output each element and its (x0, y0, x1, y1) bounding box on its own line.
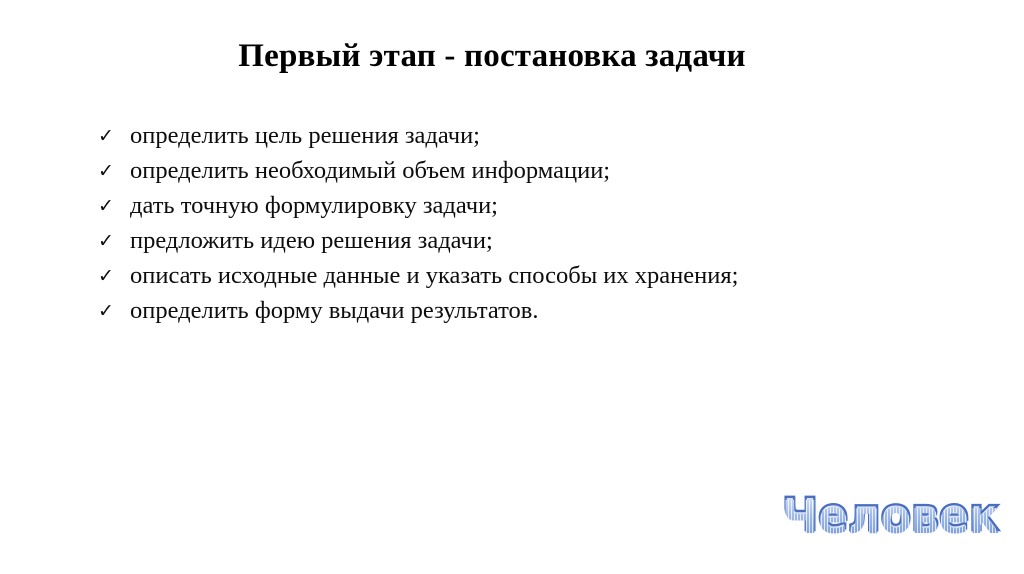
list-item-label: определить форму выдачи результатов. (130, 293, 958, 328)
list-item-label: описать исходные данные и указать способ… (130, 258, 958, 293)
check-icon: ✓ (98, 154, 130, 189)
list-item: ✓ определить цель решения задачи; (98, 118, 958, 153)
list-item-label: определить необходимый объем информации; (130, 153, 958, 188)
list-item: ✓ описать исходные данные и указать спос… (98, 258, 958, 293)
check-icon: ✓ (98, 189, 130, 224)
list-item: ✓ дать точную формулировку задачи; (98, 188, 958, 223)
page-title: Первый этап - постановка задачи (0, 36, 1024, 76)
list-item-label: определить цель решения задачи; (130, 118, 958, 153)
list-item: ✓ определить необходимый объем информаци… (98, 153, 958, 188)
chelovek-logo: Человек Человек (782, 489, 1008, 547)
bullet-list: ✓ определить цель решения задачи; ✓ опре… (98, 118, 958, 328)
slide-canvas: Первый этап - постановка задачи ✓ опреде… (0, 0, 1024, 574)
list-item: ✓ предложить идею решения задачи; (98, 223, 958, 258)
list-item-label: дать точную формулировку задачи; (130, 188, 958, 223)
check-icon: ✓ (98, 119, 130, 154)
logo-fill-layer: Человек (782, 492, 999, 544)
check-icon: ✓ (98, 294, 130, 329)
list-item: ✓ определить форму выдачи результатов. (98, 293, 958, 328)
list-item-label: предложить идею решения задачи; (130, 223, 958, 258)
check-icon: ✓ (98, 224, 130, 259)
check-icon: ✓ (98, 259, 130, 294)
